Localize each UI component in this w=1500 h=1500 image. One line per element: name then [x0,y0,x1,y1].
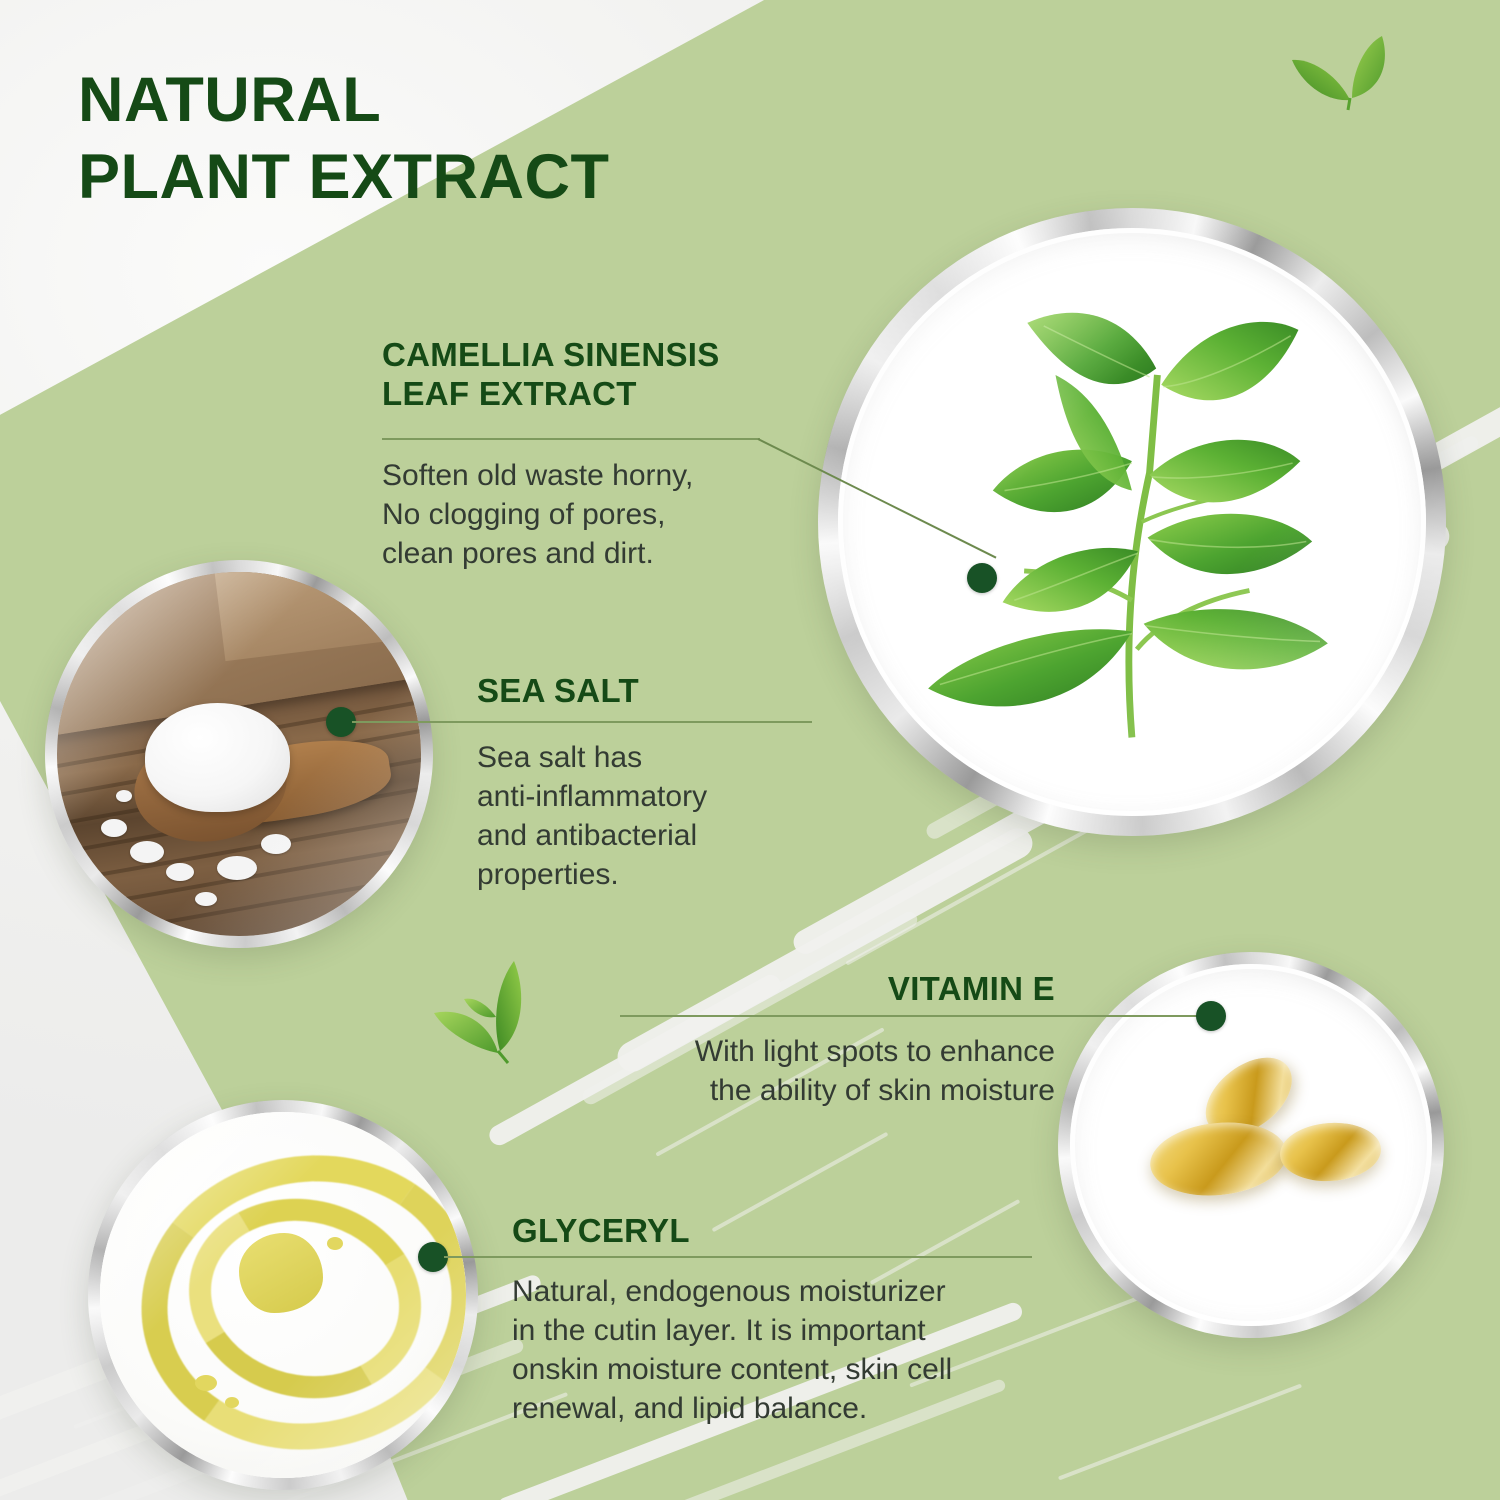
tea-leaf-sprig-icon [430,955,565,1090]
connector-underline-sea-salt [352,721,812,723]
connector-underline-vitamin-e [620,1015,1210,1017]
dish-interior [100,1112,465,1477]
callout-title-camellia: CAMELLIA SINENSIS LEAF EXTRACT [382,336,802,414]
callout-body-wrap-vitamin-e: With light spots to enhance the ability … [610,1032,1055,1110]
petri-dish-vitamin-e [1058,952,1444,1338]
vitamin-capsule [1146,1116,1290,1202]
petri-dish-sea-salt [45,560,433,948]
callout-body-sea-salt: Sea salt has anti-inflammatory and antib… [477,738,817,894]
callout-body-glyceryl: Natural, endogenous moisturizer in the c… [512,1272,1057,1428]
dish-interior [1070,964,1431,1325]
vitamin-capsule [1278,1120,1383,1185]
callout-body-wrap-sea-salt: Sea salt has anti-inflammatory and antib… [477,738,817,894]
callout-title-vitamin-e: VITAMIN E [610,970,1055,1009]
callout-vitamin-e: VITAMIN E [610,970,1055,1009]
glycerin-drip [225,1397,239,1408]
callout-body-wrap-camellia: Soften old waste horny, No clogging of p… [382,456,812,573]
sea-salt-photo [57,572,420,935]
petri-dish-glyceryl [88,1100,478,1490]
callout-camellia: CAMELLIA SINENSIS LEAF EXTRACT [382,336,802,414]
connector-dot-camellia [967,563,997,593]
glycerin-blob [239,1233,323,1313]
connector-underline-camellia [382,438,760,440]
poster-canvas: NATURAL PLANT EXTRACT [0,0,1500,1500]
dish-interior [57,572,420,935]
tea-leaf-sprig-icon [1278,32,1428,142]
callout-glyceryl: GLYCERYL [512,1212,1052,1251]
salt-heap [145,703,290,812]
callout-title-sea-salt: SEA SALT [477,672,817,711]
connector-dot-vitamin-e [1196,1001,1226,1031]
connector-underline-glyceryl [444,1256,1032,1258]
callout-sea-salt: SEA SALT [477,672,817,711]
callout-body-vitamin-e: With light spots to enhance the ability … [610,1032,1055,1110]
callout-body-wrap-glyceryl: Natural, endogenous moisturizer in the c… [512,1272,1057,1428]
brush-streak [1058,1384,1302,1481]
callout-title-glyceryl: GLYCERYL [512,1212,1052,1251]
petri-dish-green-tea [818,208,1446,836]
glycerin-drip [327,1237,343,1250]
page-title: NATURAL PLANT EXTRACT [78,62,609,216]
callout-body-camellia: Soften old waste horny, No clogging of p… [382,456,812,573]
